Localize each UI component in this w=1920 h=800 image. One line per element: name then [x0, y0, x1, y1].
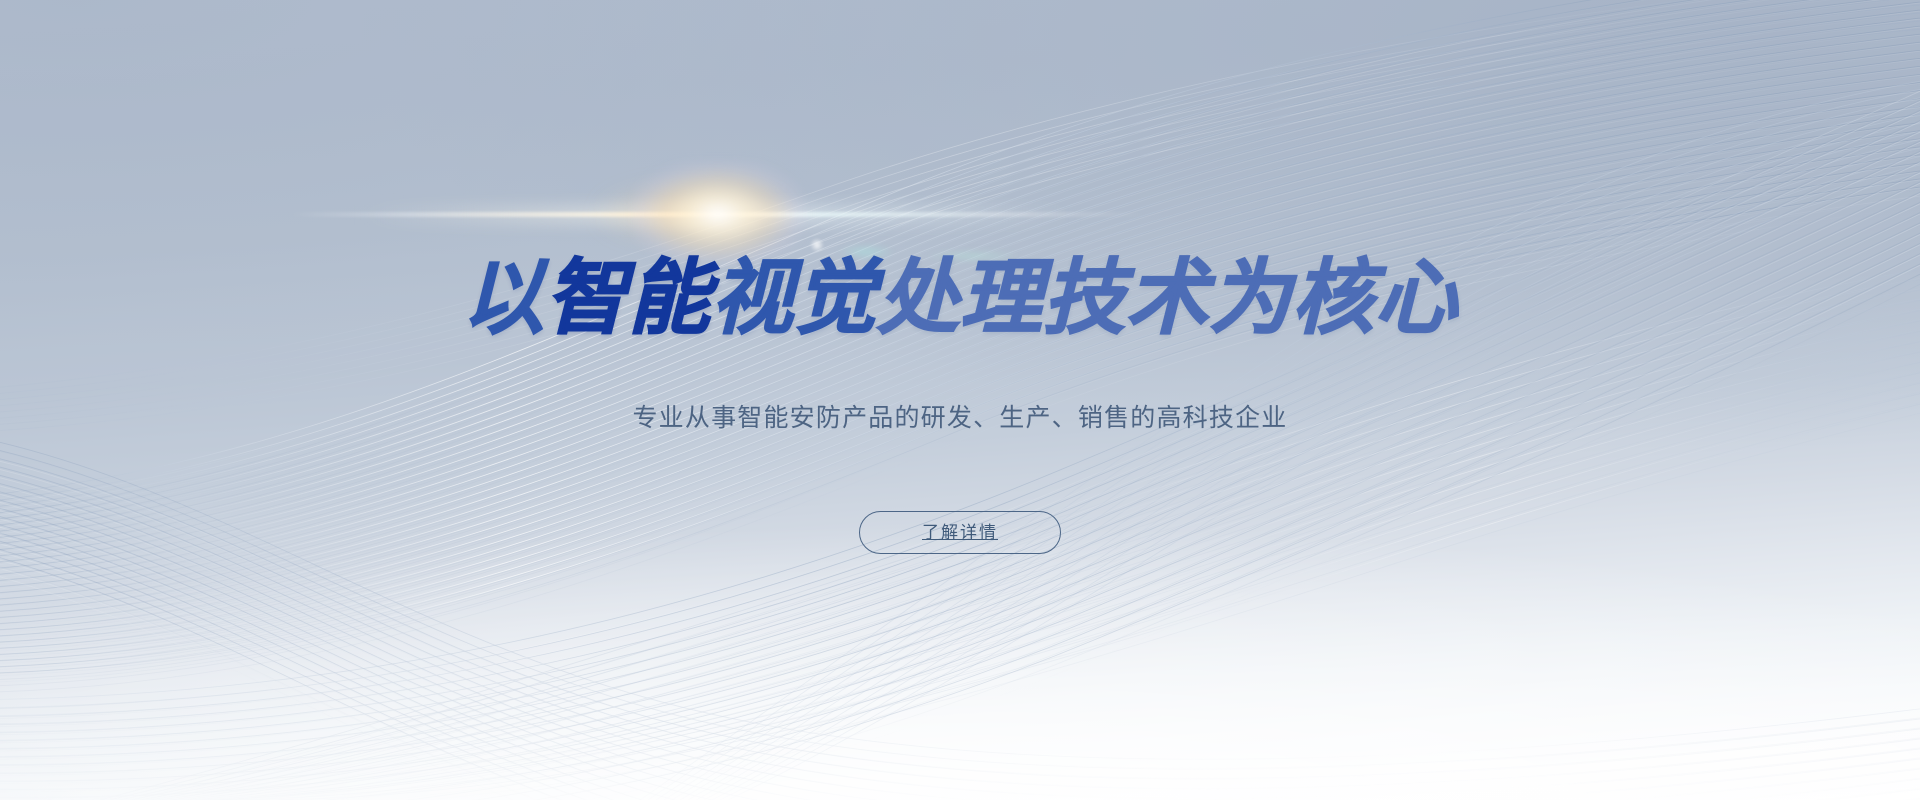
headline-segment-1: 以: [462, 253, 545, 344]
headline-segment-3: 视觉: [711, 253, 877, 344]
headline-segment-4: 处理技术为核心: [877, 253, 1458, 344]
hero-banner: 以智能视觉处理技术为核心 专业从事智能安防产品的研发、生产、销售的高科技企业 了…: [0, 0, 1920, 800]
learn-more-button[interactable]: 了解详情: [859, 511, 1061, 554]
flare-ghost-dot: [810, 238, 824, 252]
hero-cta-container: 了解详情: [0, 511, 1920, 554]
flare-core: [633, 162, 803, 266]
headline-segment-2: 智能: [545, 253, 711, 344]
hero-subtitle: 专业从事智能安防产品的研发、生产、销售的高科技企业: [0, 400, 1920, 438]
flare-streak: [288, 212, 1148, 217]
hero-headline: 以智能视觉处理技术为核心: [0, 258, 1920, 340]
flare-soft-streak: [358, 205, 1078, 225]
flare-warm-glow: [598, 180, 788, 246]
